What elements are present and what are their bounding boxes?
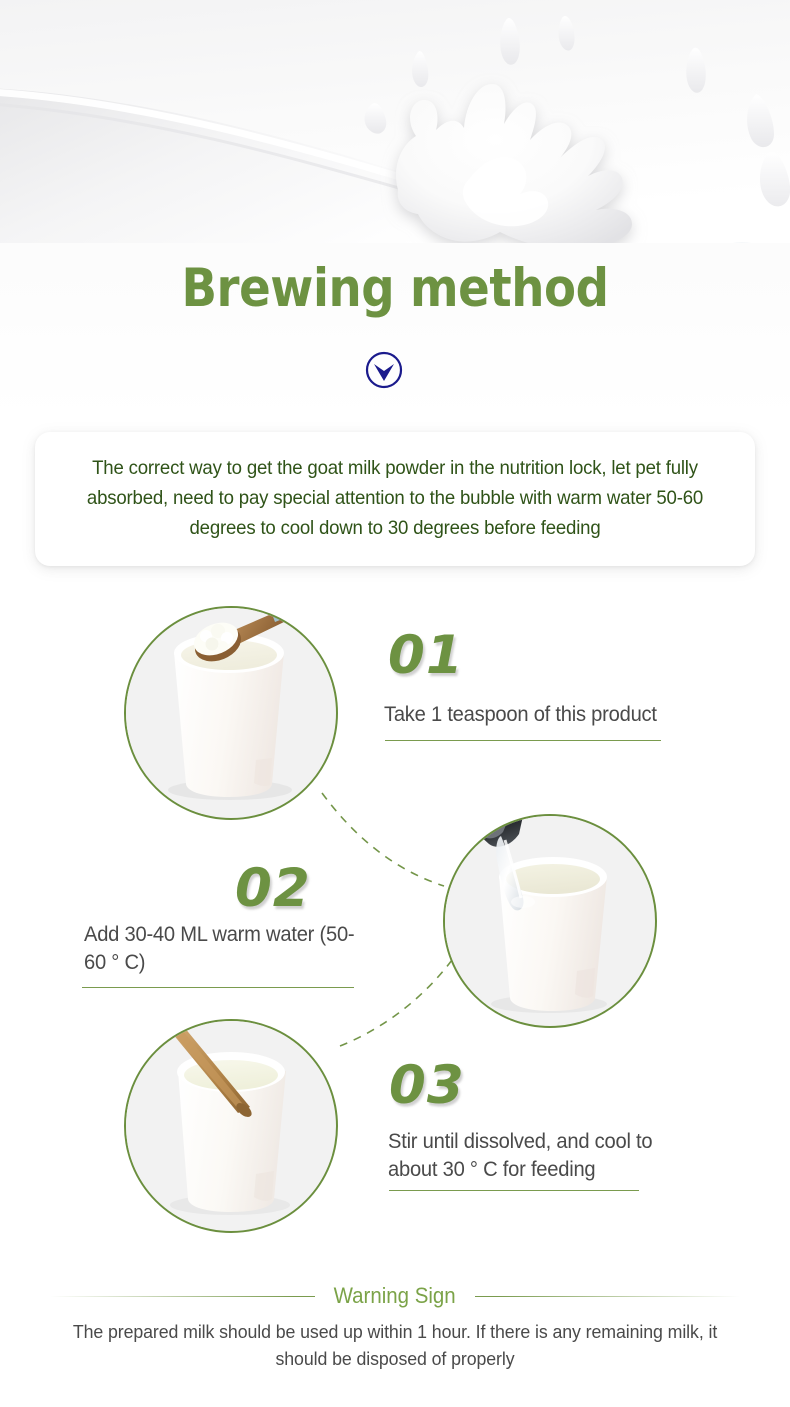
warning-text: The prepared milk should be used up with… [59,1318,731,1372]
warning-header: Warning Sign [0,1281,790,1311]
steps-section: 01 Take 1 teaspoon of this product 02 Ad… [0,0,790,1407]
step-number-3: 03 [389,1055,465,1116]
brewing-method-page: Brewing method The correct way to get th… [0,0,790,1407]
cup-with-spoon-of-powder-icon [126,608,332,814]
kettle-pouring-water-icon [445,816,651,1022]
step-text-3: Stir until dissolved, and cool to about … [388,1128,686,1184]
step-text-1: Take 1 teaspoon of this product [384,701,701,729]
step-number-2: 02 [235,858,311,919]
step-number-1: 01 [388,625,464,686]
step-rule-1 [385,740,661,741]
warning-rule-right [475,1296,740,1297]
warning-title: Warning Sign [334,1283,456,1309]
step-image-2 [443,814,657,1028]
step-image-3 [124,1019,338,1233]
step-text-2: Add 30-40 ML warm water (50-60 ° C) [84,921,372,977]
step-rule-2 [82,987,354,988]
step-image-1 [124,606,338,820]
step-rule-3 [389,1190,639,1191]
cup-with-stirrer-icon [126,1021,332,1227]
warning-rule-left [50,1296,315,1297]
